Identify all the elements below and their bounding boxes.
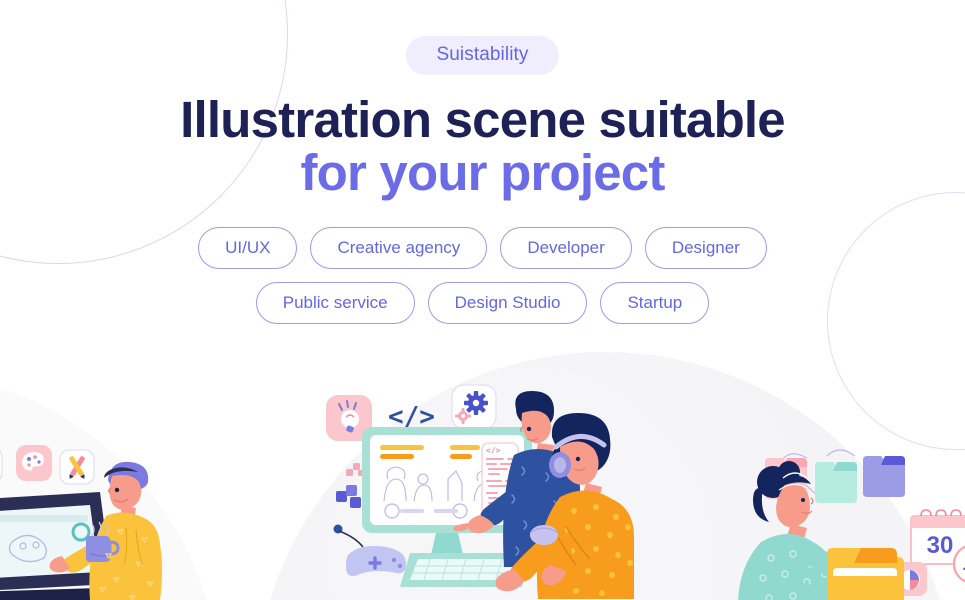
tag-row-1: UI/UX Creative agency Developer Designer xyxy=(0,227,965,269)
tag-startup[interactable]: Startup xyxy=(600,282,709,324)
pencils-icon xyxy=(60,450,94,484)
svg-text:</>: </> xyxy=(486,446,501,455)
image-icon xyxy=(0,448,2,482)
illustration-woman-with-folders: 30 xyxy=(735,440,965,600)
tag-designer[interactable]: Designer xyxy=(645,227,767,269)
status-badge: Suistability xyxy=(406,36,558,75)
tag-design-studio[interactable]: Design Studio xyxy=(428,282,588,324)
tag-ui-ux[interactable]: UI/UX xyxy=(198,227,297,269)
illustration-designer-with-tablet xyxy=(0,440,220,600)
tag-row-2: Public service Design Studio Startup xyxy=(0,282,965,324)
palette-icon xyxy=(16,445,52,481)
tag-developer[interactable]: Developer xyxy=(500,227,632,269)
page-title-line2: for your project xyxy=(0,147,965,200)
folder-mint xyxy=(815,462,857,503)
hero-content: Suistability Illustration scene suitable… xyxy=(0,0,965,337)
gear-icon xyxy=(452,385,496,429)
decor-pink-blocks xyxy=(346,463,364,476)
tag-public-service[interactable]: Public service xyxy=(256,282,415,324)
illustration-two-developers: </> xyxy=(312,375,664,600)
computer-mouse xyxy=(530,525,558,545)
page-title: Illustration scene suitable for your pro… xyxy=(0,94,965,199)
decor-purple-blocks xyxy=(336,485,361,508)
tag-creative-agency[interactable]: Creative agency xyxy=(310,227,487,269)
page-title-line1: Illustration scene suitable xyxy=(0,94,965,147)
tag-list: UI/UX Creative agency Developer Designer… xyxy=(0,227,965,324)
calendar-day: 30 xyxy=(927,532,954,559)
hero-page: Suistability Illustration scene suitable… xyxy=(0,0,965,600)
folder-purple xyxy=(863,456,905,497)
